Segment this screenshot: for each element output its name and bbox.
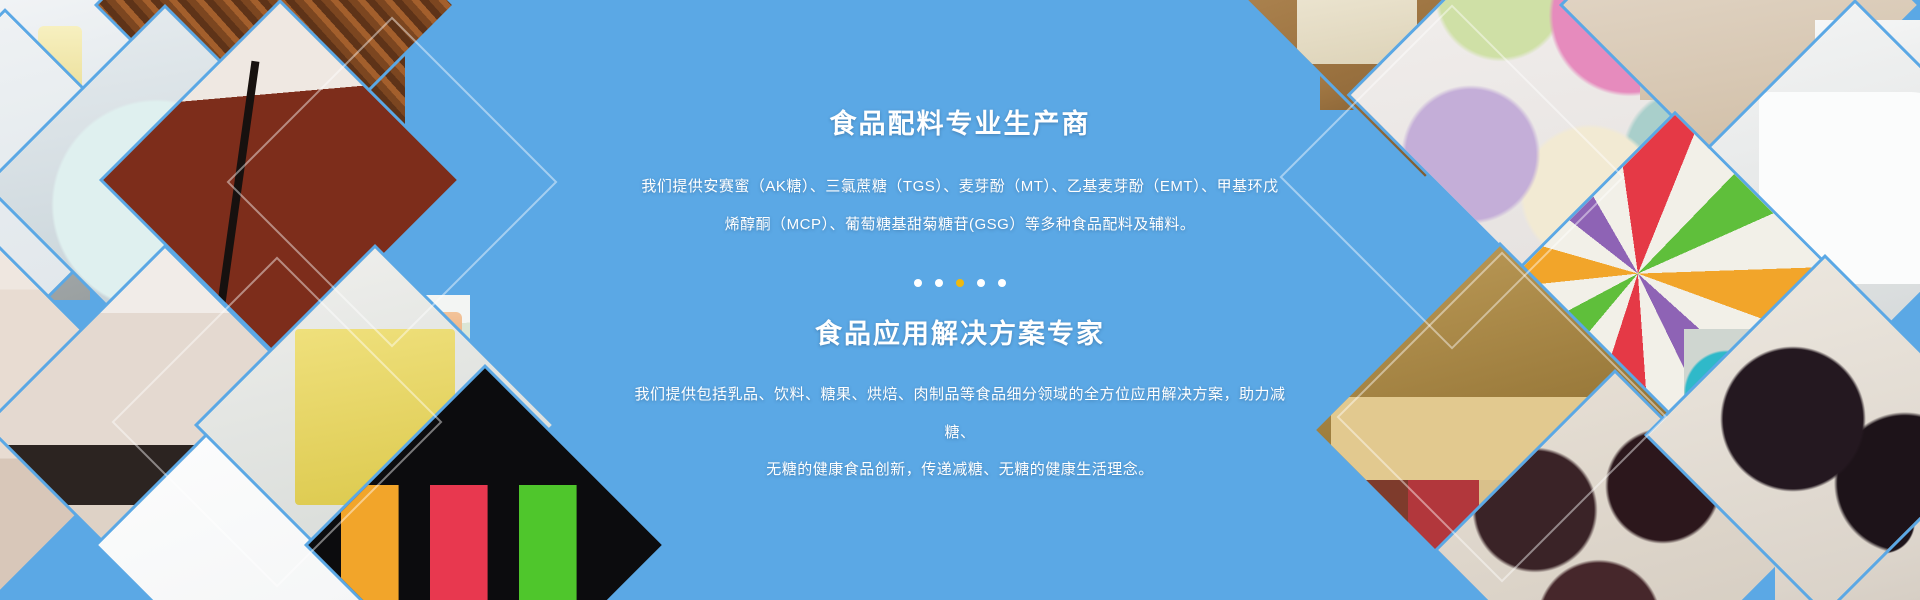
separator-dot-5 [998, 279, 1006, 287]
hero-banner: 食品配料专业生产商 我们提供安赛蜜（AK糖）、三氯蔗糖（TGS）、麦芽酚（MT）… [0, 0, 1920, 600]
separator-dot-4 [977, 279, 985, 287]
section-one: 食品配料专业生产商 我们提供安赛蜜（AK糖）、三氯蔗糖（TGS）、麦芽酚（MT）… [641, 111, 1278, 243]
separator-dot-3-accent [956, 279, 964, 287]
section-two-paragraph-line-2: 无糖的健康食品创新，传递减糖、无糖的健康生活理念。 [630, 451, 1290, 489]
section-separator-dots [914, 279, 1006, 287]
banner-copy: 食品配料专业生产商 我们提供安赛蜜（AK糖）、三氯蔗糖（TGS）、麦芽酚（MT）… [0, 0, 1920, 600]
separator-dot-1 [914, 279, 922, 287]
separator-dot-2 [935, 279, 943, 287]
section-one-paragraph-line-1: 我们提供安赛蜜（AK糖）、三氯蔗糖（TGS）、麦芽酚（MT）、乙基麦芽酚（EMT… [641, 168, 1278, 206]
section-one-paragraph-line-2: 烯醇酮（MCP）、葡萄糖基甜菊糖苷(GSG）等多种食品配料及辅料。 [641, 206, 1278, 244]
section-one-headline: 食品配料专业生产商 [641, 111, 1278, 138]
section-two-headline: 食品应用解决方案专家 [630, 321, 1290, 348]
section-two-paragraph-line-1: 我们提供包括乳品、饮料、糖果、烘焙、肉制品等食品细分领域的全方位应用解决方案，助… [630, 376, 1290, 451]
section-two: 食品应用解决方案专家 我们提供包括乳品、饮料、糖果、烘焙、肉制品等食品细分领域的… [630, 321, 1290, 489]
